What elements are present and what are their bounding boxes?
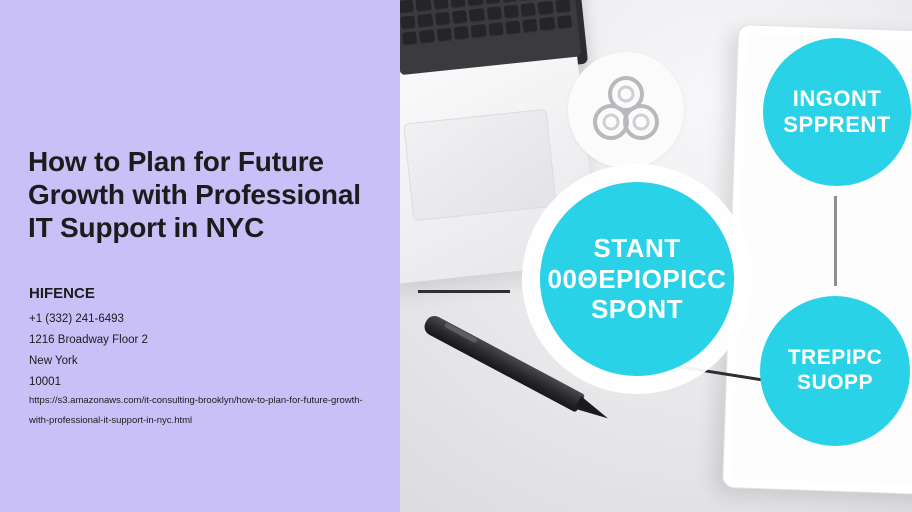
- keyboard-key: [469, 8, 485, 22]
- keyboard-key: [505, 20, 521, 34]
- keyboard-key: [486, 6, 502, 20]
- photo-panel: INGONT SPPRENT STANT 00ΘΕΡΙΟΡΙϹϹ SPONT T…: [400, 0, 912, 512]
- keyboard-key: [538, 1, 554, 15]
- node-label-line2: SUOPP: [797, 371, 873, 396]
- node-label-line3: SPONT: [591, 294, 683, 325]
- keyboard-key: [522, 19, 538, 33]
- keyboard-key: [452, 10, 468, 24]
- keyboard-key: [467, 0, 483, 7]
- keyboard-key: [488, 22, 504, 36]
- keyboard-key: [450, 0, 466, 8]
- contact-city: New York: [29, 351, 379, 372]
- contact-phone: +1 (332) 241-6493: [29, 309, 379, 330]
- node-label-line2: 00ΘΕΡΙΟΡΙϹϹ: [548, 264, 727, 295]
- slide-page: How to Plan for Future Growth with Profe…: [0, 0, 912, 512]
- page-title: How to Plan for Future Growth with Profe…: [28, 145, 378, 244]
- diagram-node-bottom-right: TREPIPC SUOPP: [760, 296, 910, 446]
- keyboard-key: [435, 12, 451, 26]
- diagram-node-center: STANT 00ΘΕΡΙΟΡΙϹϹ SPONT: [540, 182, 734, 376]
- keyboard-key: [416, 0, 432, 12]
- keyboard-key: [400, 0, 414, 14]
- keyboard-key: [540, 17, 556, 31]
- keyboard-key: [502, 0, 518, 3]
- keyboard-key: [503, 5, 519, 19]
- three-circles-logo-icon: [568, 52, 684, 168]
- keyboard-key: [433, 0, 449, 10]
- node-label-line2: SPPRENT: [783, 112, 890, 138]
- connector-line-left: [418, 290, 510, 293]
- contact-zip: 10001: [29, 372, 379, 393]
- keyboard-key: [521, 3, 537, 17]
- keyboard-key: [485, 0, 501, 5]
- laptop-trackpad: [403, 109, 556, 222]
- keyboard-key: [400, 15, 416, 29]
- node-label-line1: INGONT: [793, 86, 882, 112]
- node-label-line1: STANT: [593, 233, 680, 264]
- keyboard-key: [555, 0, 571, 14]
- connector-line-vertical: [834, 196, 837, 286]
- keyboard-key: [417, 14, 433, 28]
- keyboard-key: [436, 28, 452, 42]
- source-url[interactable]: https://s3.amazonaws.com/it-consulting-b…: [29, 391, 369, 431]
- contact-list: +1 (332) 241-6493 1216 Broadway Floor 2 …: [29, 309, 379, 393]
- node-label-line1: TREPIPC: [788, 346, 883, 371]
- keyboard-key: [557, 15, 573, 29]
- keyboard-key: [471, 24, 487, 38]
- keyboard-key: [402, 31, 418, 45]
- diagram-node-top-right: INGONT SPPRENT: [763, 38, 911, 186]
- keyboard-key: [519, 0, 535, 1]
- contact-street: 1216 Broadway Floor 2: [29, 330, 379, 351]
- keyboard-key: [419, 30, 435, 44]
- organization-name: HIFENCE: [29, 285, 95, 302]
- keyboard-key: [454, 26, 470, 40]
- left-info-panel: How to Plan for Future Growth with Profe…: [0, 0, 400, 512]
